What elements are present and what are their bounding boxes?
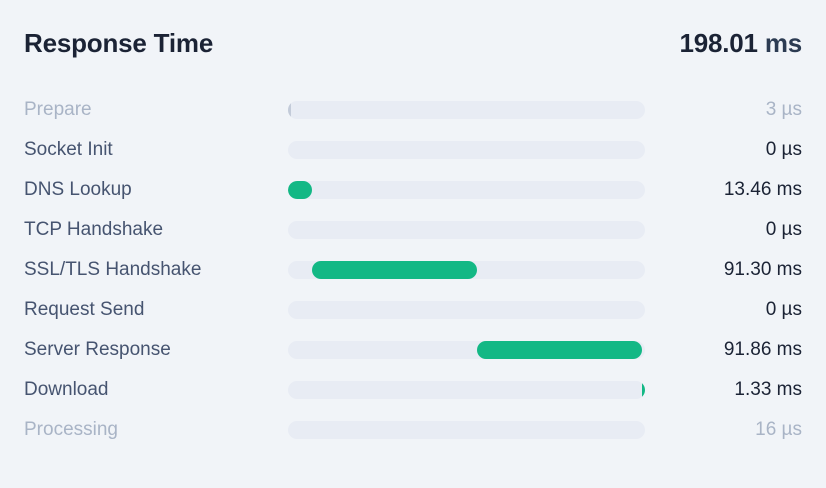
timing-row-label: Processing [24,419,288,441]
timing-row: Server Response91.86 ms [24,330,802,370]
timing-row-value: 91.30 ms [645,259,802,281]
total-response-time: 198.01 ms [679,28,802,59]
timing-row-label: TCP Handshake [24,219,288,241]
timing-bar-segment [477,341,643,359]
total-value: 198.01 [679,28,757,58]
timing-bar-cell [288,301,645,319]
timing-row: SSL/TLS Handshake91.30 ms [24,250,802,290]
timing-bar-cell [288,141,645,159]
timing-row-value: 3 µs [645,99,802,121]
timing-row-value: 16 µs [645,419,802,441]
timing-bar-cell [288,101,645,119]
timing-row-value: 91.86 ms [645,339,802,361]
timing-row: TCP Handshake0 µs [24,210,802,250]
total-unit: ms [765,28,802,58]
timing-row-label: Socket Init [24,139,288,161]
page-title: Response Time [24,28,213,59]
timing-row: DNS Lookup13.46 ms [24,170,802,210]
timing-row: Socket Init0 µs [24,130,802,170]
timing-row-label: Prepare [24,99,288,121]
timing-bar-segment [642,381,645,399]
timing-bar-segment [288,101,291,119]
timing-bar-track [288,261,645,279]
timing-row: Download1.33 ms [24,370,802,410]
timing-row-label: Download [24,379,288,401]
timing-bar-track [288,301,645,319]
timing-bar-segment [312,261,477,279]
timing-row-value: 0 µs [645,219,802,241]
timing-row: Prepare3 µs [24,90,802,130]
timing-bar-track [288,381,645,399]
timing-row-label: DNS Lookup [24,179,288,201]
timing-bar-cell [288,221,645,239]
timing-row-label: SSL/TLS Handshake [24,259,288,281]
timing-row: Processing16 µs [24,410,802,450]
timing-bar-cell [288,421,645,439]
timing-bar-track [288,341,645,359]
timing-row-value: 0 µs [645,139,802,161]
timing-bar-track [288,421,645,439]
timing-bar-track [288,221,645,239]
timing-bar-cell [288,181,645,199]
timing-bar-cell [288,261,645,279]
timing-row: Request Send0 µs [24,290,802,330]
timing-row-value: 13.46 ms [645,179,802,201]
timing-row-label: Request Send [24,299,288,321]
card-header: Response Time 198.01 ms [24,24,802,82]
timing-bar-track [288,101,645,119]
timing-bar-cell [288,341,645,359]
timing-bar-track [288,181,645,199]
timing-row-value: 1.33 ms [645,379,802,401]
response-time-card: Response Time 198.01 ms Prepare3 µsSocke… [0,0,826,488]
timing-row-label: Server Response [24,339,288,361]
timing-bar-segment [288,181,312,199]
timing-bar-track [288,141,645,159]
timing-bar-cell [288,381,645,399]
timing-row-value: 0 µs [645,299,802,321]
timing-rows: Prepare3 µsSocket Init0 µsDNS Lookup13.4… [24,90,802,450]
